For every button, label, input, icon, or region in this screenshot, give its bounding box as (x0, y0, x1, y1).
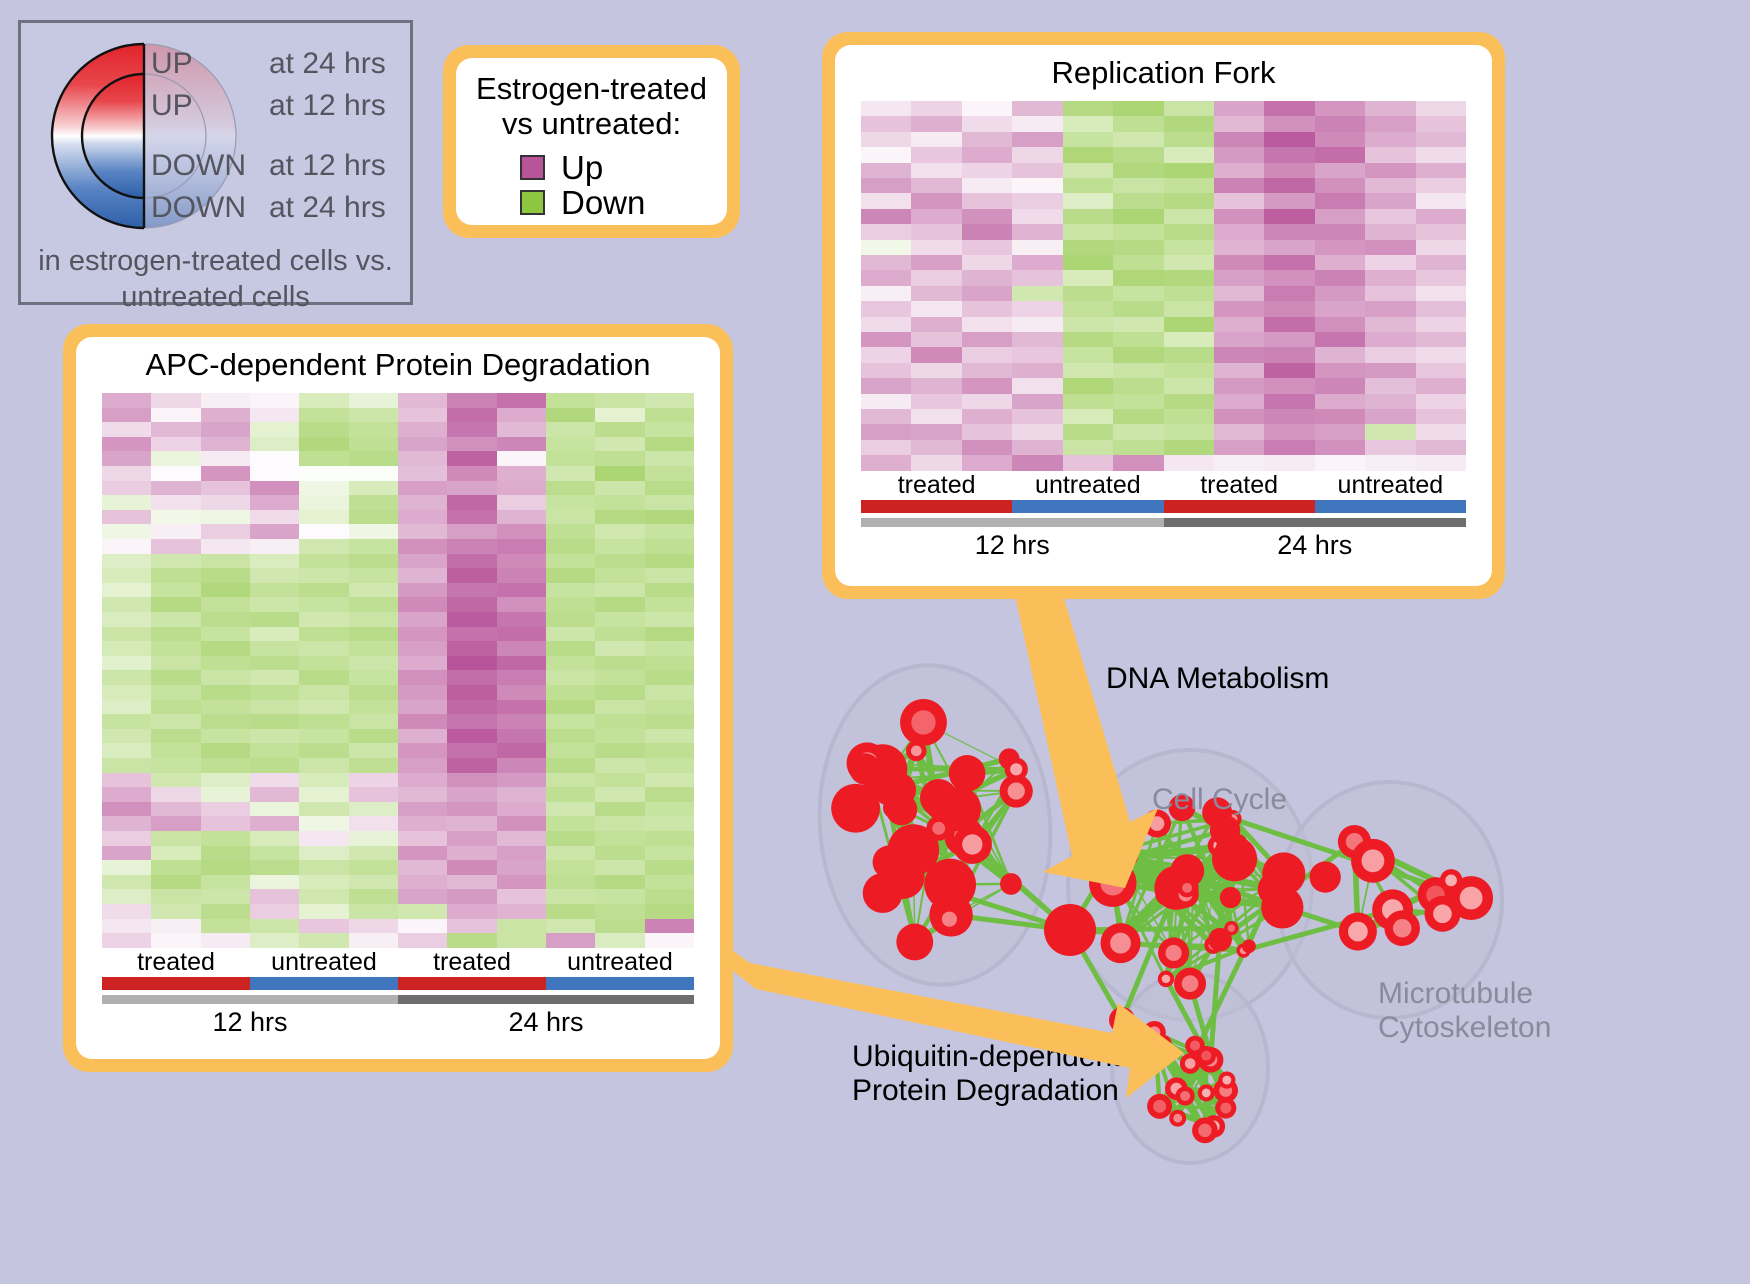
heat-cell (1012, 363, 1062, 378)
heat-cell (151, 495, 200, 510)
heat-cell (861, 178, 911, 193)
heat-cell (349, 685, 398, 700)
heat-cell (1214, 394, 1264, 409)
network-node[interactable] (1310, 861, 1341, 892)
network-node[interactable] (1174, 968, 1206, 1000)
heat-cell (398, 875, 447, 890)
heat-cell (250, 743, 299, 758)
heat-cell (447, 729, 496, 744)
heat-cell (911, 347, 961, 362)
heat-cell (151, 729, 200, 744)
heat-cell (1416, 409, 1466, 424)
heat-cell (546, 787, 595, 802)
heat-cell (962, 101, 1012, 116)
heat-cell (962, 193, 1012, 208)
heat-cell (1113, 440, 1163, 455)
heat-cell (1264, 394, 1314, 409)
heat-cell (349, 670, 398, 685)
heat-cell (1063, 224, 1113, 239)
network-node[interactable] (1218, 1072, 1235, 1089)
heat-cell (250, 597, 299, 612)
heat-cell (595, 437, 644, 452)
heat-cell (595, 889, 644, 904)
heat-cell (201, 656, 250, 671)
heat-cell (645, 627, 694, 642)
heat-cell (151, 700, 200, 715)
heat-cell (299, 539, 348, 554)
heat-cell (497, 641, 546, 656)
heat-cell (962, 116, 1012, 131)
key-word-0: UP (151, 47, 269, 81)
rf-group-0: treated (861, 471, 1012, 500)
heat-cell (299, 670, 348, 685)
heat-cell (1164, 209, 1214, 224)
network-node[interactable] (896, 924, 933, 961)
heat-cell (595, 597, 644, 612)
heat-cell (1012, 440, 1062, 455)
heat-cell (1416, 378, 1466, 393)
legend-item-down: Down (520, 186, 719, 219)
heat-cell (1365, 270, 1415, 285)
heat-cell (1416, 116, 1466, 131)
heat-cell (911, 270, 961, 285)
heat-cell (1063, 132, 1113, 147)
heat-cell (645, 554, 694, 569)
heat-cell (497, 481, 546, 496)
heat-cell (299, 568, 348, 583)
network-node[interactable] (1185, 1036, 1205, 1056)
heat-cell (546, 714, 595, 729)
heat-cell (349, 656, 398, 671)
heat-cell (349, 612, 398, 627)
heat-cell (962, 455, 1012, 470)
heat-cell (398, 524, 447, 539)
network-node[interactable] (926, 792, 953, 819)
heat-cell (1365, 394, 1415, 409)
heat-cell (447, 568, 496, 583)
heat-cell (398, 583, 447, 598)
heat-cell (497, 714, 546, 729)
heat-cell (1164, 363, 1214, 378)
heat-cell (398, 860, 447, 875)
heat-cell (1416, 224, 1466, 239)
heat-cell (1315, 440, 1365, 455)
heat-cell (447, 422, 496, 437)
network-node[interactable] (1339, 913, 1377, 951)
heat-cell (398, 539, 447, 554)
heat-cell (250, 773, 299, 788)
heat-cell (151, 437, 200, 452)
heat-cell (299, 524, 348, 539)
heat-cell (151, 670, 200, 685)
heat-cell (861, 209, 911, 224)
heat-cell (595, 466, 644, 481)
network-node[interactable] (1044, 904, 1096, 956)
network-node[interactable] (1192, 1118, 1218, 1144)
heat-cell (1012, 178, 1062, 193)
heat-cell (497, 889, 546, 904)
heat-cell (398, 743, 447, 758)
rf-group-labels: treated untreated treated untreated (861, 471, 1466, 500)
network-node[interactable] (1384, 910, 1420, 946)
network-node[interactable] (1169, 1110, 1186, 1127)
heat-cell (201, 524, 250, 539)
heat-cell (497, 524, 546, 539)
heat-cell (299, 554, 348, 569)
heat-cell (1416, 363, 1466, 378)
heat-cell (1164, 116, 1214, 131)
heat-cell (299, 831, 348, 846)
heat-cell (497, 670, 546, 685)
heat-cell (1063, 378, 1113, 393)
heat-cell (151, 919, 200, 934)
heat-cell (201, 758, 250, 773)
heat-cell (497, 612, 546, 627)
heat-cell (1113, 132, 1163, 147)
heat-cell (1416, 332, 1466, 347)
heat-cell (861, 363, 911, 378)
network-node[interactable] (1000, 873, 1022, 895)
heat-cell (299, 875, 348, 890)
heat-cell (497, 875, 546, 890)
heat-cell (349, 495, 398, 510)
network-node[interactable] (900, 699, 947, 746)
heat-cell (1012, 240, 1062, 255)
apc-axis: treated untreated treated untreated 12 h… (102, 948, 694, 1038)
heat-cell (1164, 101, 1214, 116)
heat-cell (349, 816, 398, 831)
replication-fork-panel: Replication Fork treated untreated treat… (822, 32, 1505, 599)
heat-cell (398, 685, 447, 700)
heat-cell (645, 422, 694, 437)
heat-cell (447, 408, 496, 423)
heat-cell (349, 422, 398, 437)
heat-cell (911, 101, 961, 116)
heat-cell (861, 347, 911, 362)
heat-cell (1012, 347, 1062, 362)
heat-cell (250, 408, 299, 423)
heat-cell (1113, 270, 1163, 285)
cluster-label-cell-cycle: Cell Cycle (1152, 783, 1287, 817)
network-node[interactable] (1147, 1094, 1172, 1119)
heat-cell (962, 209, 1012, 224)
network-node[interactable] (1005, 758, 1028, 781)
heat-cell (299, 743, 348, 758)
network-node[interactable] (1351, 839, 1395, 883)
network-node[interactable] (1210, 815, 1240, 845)
heat-cell (1164, 378, 1214, 393)
heat-cell (1012, 455, 1062, 470)
network-node[interactable] (1101, 923, 1141, 963)
heat-cell (546, 831, 595, 846)
heat-cell (1063, 286, 1113, 301)
heat-cell (349, 860, 398, 875)
heat-cell (645, 860, 694, 875)
heat-cell (1214, 378, 1264, 393)
network-node[interactable] (1176, 1086, 1195, 1105)
heat-cell (595, 860, 644, 875)
heat-cell (201, 583, 250, 598)
rf-time-block-1 (1164, 518, 1467, 527)
heat-cell (1214, 209, 1264, 224)
heat-cell (250, 554, 299, 569)
heat-cell (201, 393, 250, 408)
heat-cell (645, 539, 694, 554)
network-node[interactable] (1180, 1053, 1200, 1073)
network-node[interactable] (1109, 1007, 1135, 1033)
heat-cell (595, 700, 644, 715)
heat-cell (398, 641, 447, 656)
heat-cell (546, 758, 595, 773)
heat-cell (299, 495, 348, 510)
heat-cell (1113, 224, 1163, 239)
network-node[interactable] (1440, 869, 1463, 892)
heat-cell (201, 685, 250, 700)
heat-cell (645, 831, 694, 846)
heat-cell (911, 193, 961, 208)
heat-cell (151, 802, 200, 817)
heat-cell (497, 846, 546, 861)
color-key-row-3: DOWN at 24 hrs (151, 191, 386, 225)
heat-cell (911, 209, 961, 224)
heat-cell (398, 933, 447, 948)
apc-group-2: treated (398, 948, 546, 977)
heat-cell (645, 714, 694, 729)
heat-cell (102, 875, 151, 890)
heat-cell (645, 773, 694, 788)
network-node[interactable] (1208, 928, 1232, 952)
heat-cell (861, 147, 911, 162)
heat-cell (250, 641, 299, 656)
network-node[interactable] (883, 797, 904, 818)
network-node[interactable] (1198, 1084, 1215, 1101)
heat-cell (497, 816, 546, 831)
heat-cell (497, 597, 546, 612)
heat-cell (201, 846, 250, 861)
heat-cell (349, 802, 398, 817)
heat-cell (201, 422, 250, 437)
heat-cell (962, 270, 1012, 285)
key-word-1: UP (151, 89, 269, 123)
heat-cell (349, 714, 398, 729)
heat-cell (1416, 424, 1466, 439)
network-node[interactable] (849, 753, 881, 785)
heat-cell (645, 919, 694, 934)
network-node[interactable] (1158, 971, 1174, 987)
heat-cell (201, 773, 250, 788)
network-node[interactable] (1155, 884, 1177, 906)
heat-cell (299, 481, 348, 496)
network-node[interactable] (1178, 878, 1197, 897)
network-node[interactable] (1185, 860, 1202, 877)
heat-cell (1416, 455, 1466, 470)
heat-cell (1264, 101, 1314, 116)
heat-cell (645, 758, 694, 773)
heat-cell (1164, 240, 1214, 255)
heat-cell (349, 597, 398, 612)
heat-cell (102, 729, 151, 744)
heat-cell (1264, 178, 1314, 193)
network-node[interactable] (1143, 1021, 1166, 1044)
heat-cell (398, 889, 447, 904)
heat-cell (299, 612, 348, 627)
network-node[interactable] (1158, 937, 1189, 968)
heat-cell (546, 904, 595, 919)
heat-cell (1416, 286, 1466, 301)
heat-cell (1365, 224, 1415, 239)
heat-cell (1113, 317, 1163, 332)
heat-cell (1315, 286, 1365, 301)
heat-cell (1365, 255, 1415, 270)
heat-cell (1365, 455, 1415, 470)
heat-cell (546, 627, 595, 642)
heat-cell (250, 437, 299, 452)
apc-heatmap (102, 393, 694, 948)
heat-cell (1315, 178, 1365, 193)
heat-cell (1214, 240, 1264, 255)
heat-cell (497, 802, 546, 817)
heat-cell (447, 802, 496, 817)
heat-cell (497, 510, 546, 525)
heat-cell (1063, 240, 1113, 255)
heat-cell (546, 437, 595, 452)
apc-treatment-block-0 (102, 977, 250, 990)
heat-cell (250, 889, 299, 904)
heat-cell (299, 846, 348, 861)
heat-cell (546, 729, 595, 744)
rf-treatment-block-2 (1164, 500, 1315, 513)
legend-swatch-up (520, 155, 545, 180)
heat-cell (595, 451, 644, 466)
heat-cell (151, 524, 200, 539)
heat-cell (102, 816, 151, 831)
network-node[interactable] (1425, 896, 1461, 932)
heat-cell (447, 393, 496, 408)
network-node[interactable] (953, 825, 992, 864)
heat-cell (299, 787, 348, 802)
heat-cell (497, 656, 546, 671)
heat-cell (1315, 255, 1365, 270)
heat-cell (250, 700, 299, 715)
heat-cell (102, 510, 151, 525)
heat-cell (1214, 224, 1264, 239)
heat-cell (861, 132, 911, 147)
heat-cell (447, 875, 496, 890)
heat-cell (349, 743, 398, 758)
network-node[interactable] (1220, 887, 1241, 908)
heat-cell (201, 889, 250, 904)
heat-cell (398, 568, 447, 583)
heat-cell (102, 408, 151, 423)
key-word-3: DOWN (151, 191, 269, 225)
heat-cell (1063, 332, 1113, 347)
heat-cell (1214, 270, 1264, 285)
heat-cell (911, 178, 961, 193)
heat-cell (1164, 455, 1214, 470)
heat-cell (151, 875, 200, 890)
heat-cell (447, 554, 496, 569)
heat-cell (497, 685, 546, 700)
heat-cell (497, 919, 546, 934)
heat-cell (1063, 116, 1113, 131)
heat-cell (1214, 409, 1264, 424)
heat-cell (349, 583, 398, 598)
heat-cell (1214, 363, 1264, 378)
apc-treatment-block-2 (398, 977, 546, 990)
heat-cell (497, 700, 546, 715)
heat-cell (447, 904, 496, 919)
heat-cell (1113, 286, 1163, 301)
heat-cell (645, 568, 694, 583)
heat-cell (102, 846, 151, 861)
heat-cell (398, 554, 447, 569)
heat-cell (250, 802, 299, 817)
network-node[interactable] (888, 824, 940, 876)
heat-cell (1012, 378, 1062, 393)
heat-cell (201, 816, 250, 831)
heat-cell (1315, 332, 1365, 347)
heat-cell (645, 437, 694, 452)
heat-cell (102, 612, 151, 627)
heat-cell (962, 240, 1012, 255)
network-node[interactable] (1261, 886, 1303, 928)
heat-cell (497, 743, 546, 758)
heat-cell (349, 554, 398, 569)
network-node[interactable] (906, 741, 927, 762)
network-node[interactable] (863, 873, 903, 913)
color-key-box: UP at 24 hrs UP at 12 hrs DOWN at 12 hrs… (18, 20, 413, 305)
network-node[interactable] (1242, 939, 1256, 953)
heat-cell (1315, 378, 1365, 393)
heat-cell (398, 700, 447, 715)
heat-cell (1365, 178, 1415, 193)
heat-cell (962, 378, 1012, 393)
heat-cell (546, 889, 595, 904)
heat-cell (151, 933, 200, 948)
heat-cell (1063, 255, 1113, 270)
heat-cell (1365, 424, 1415, 439)
heat-cell (546, 641, 595, 656)
legend-swatch-down (520, 190, 545, 215)
heat-cell (447, 583, 496, 598)
heat-cell (250, 568, 299, 583)
heat-cell (1264, 240, 1314, 255)
heat-cell (645, 641, 694, 656)
heat-cell (861, 240, 911, 255)
heat-cell (962, 363, 1012, 378)
heat-cell (250, 816, 299, 831)
heat-cell (546, 816, 595, 831)
heat-cell (201, 802, 250, 817)
heat-cell (595, 641, 644, 656)
heat-cell (1012, 224, 1062, 239)
heat-cell (151, 860, 200, 875)
heat-cell (1416, 209, 1466, 224)
heat-cell (201, 408, 250, 423)
heat-cell (1315, 163, 1365, 178)
heat-cell (151, 393, 200, 408)
network-node[interactable] (1093, 829, 1139, 875)
heat-cell (1416, 301, 1466, 316)
heat-cell (1315, 224, 1365, 239)
rf-treatment-block-0 (861, 500, 1012, 513)
heat-cell (497, 831, 546, 846)
heat-cell (299, 919, 348, 934)
network-node[interactable] (949, 755, 986, 792)
heat-cell (201, 510, 250, 525)
network-node[interactable] (935, 905, 964, 934)
key-when-1: at 12 hrs (269, 89, 386, 123)
